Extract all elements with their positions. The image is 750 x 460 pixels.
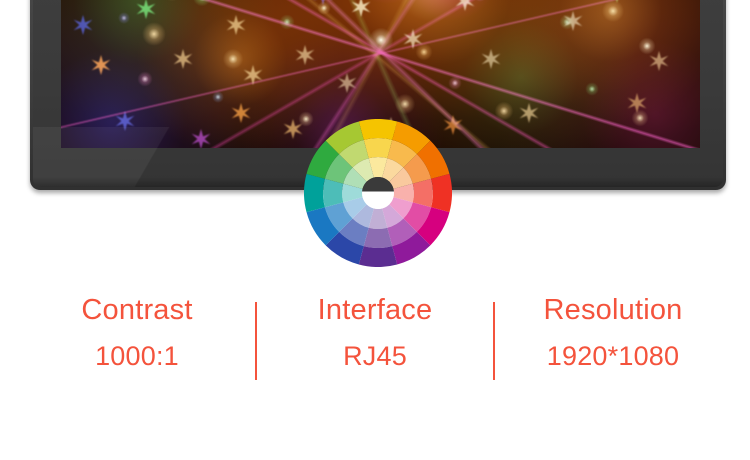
- color-wheel-segment: [304, 174, 325, 212]
- color-wheel-segment: [364, 228, 392, 248]
- product-spec-page: Contrast 1000:1 Interface RJ45 Resolutio…: [0, 0, 750, 460]
- spec-label: Interface: [318, 296, 433, 325]
- color-wheel-segment: [364, 138, 392, 158]
- color-wheel-segment: [359, 246, 397, 267]
- spec-value: 1920*1080: [547, 343, 679, 370]
- spec-strip: Contrast 1000:1 Interface RJ45 Resolutio…: [0, 296, 750, 392]
- color-wheel-svg: [304, 119, 452, 267]
- spec-label: Contrast: [81, 296, 192, 325]
- spec-value: RJ45: [343, 343, 407, 370]
- color-wheel-segment: [413, 179, 433, 207]
- color-wheel: [304, 119, 452, 267]
- spec-label: Resolution: [543, 296, 682, 325]
- color-wheel-segment: [323, 179, 343, 207]
- color-wheel-segment: [359, 119, 397, 140]
- spec-value: 1000:1: [95, 343, 179, 370]
- spec-interface: Interface RJ45: [257, 296, 493, 370]
- spec-contrast: Contrast 1000:1: [19, 296, 255, 370]
- color-wheel-segment: [431, 174, 452, 212]
- spec-resolution: Resolution 1920*1080: [495, 296, 731, 370]
- color-wheel-hub: [362, 177, 394, 209]
